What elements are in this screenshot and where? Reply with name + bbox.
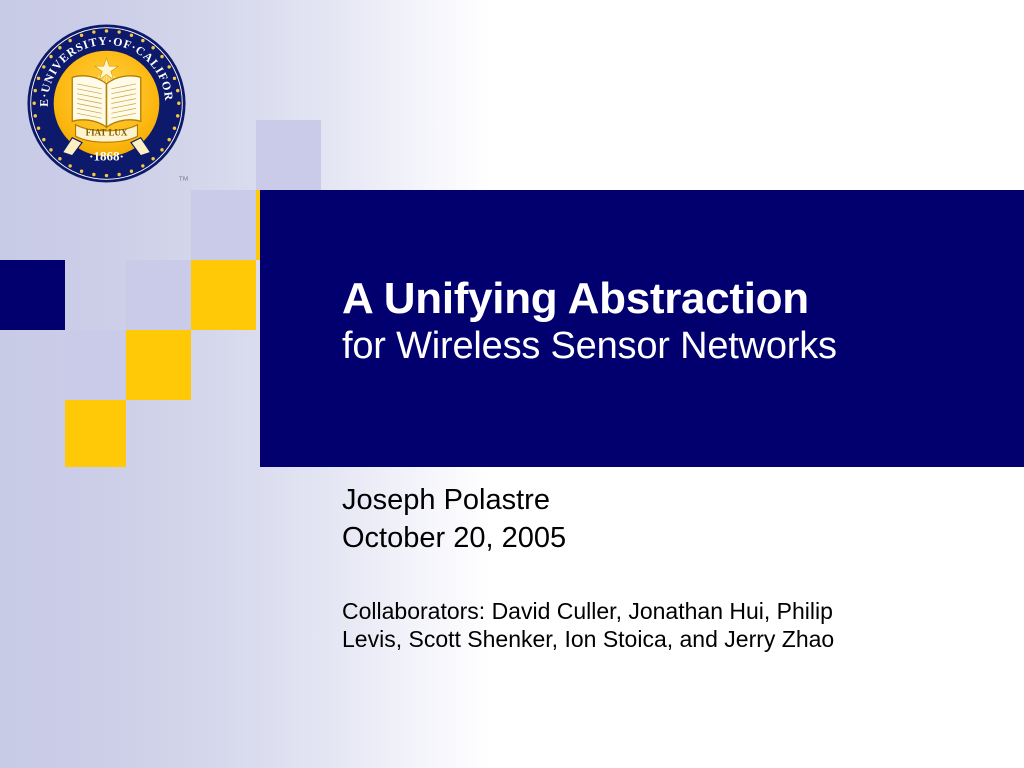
tile-lavender-r2c2 (126, 260, 191, 330)
slide-title: A Unifying Abstraction for Wireless Sens… (342, 274, 1012, 370)
seal-year: ·1868· (89, 149, 124, 164)
seal-motto: FIAT LUX (86, 127, 128, 137)
tile-lavender-r1c3 (191, 190, 256, 260)
collaborators-list: Collaborators: David Culler, Jonathan Hu… (342, 597, 1002, 653)
tile-navy-r2c0 (0, 260, 65, 330)
tile-gold-r2c3 (191, 260, 256, 330)
slide-subtitle: Joseph Polastre October 20, 2005 Collabo… (342, 482, 1002, 653)
tile-gold-r4c1 (65, 400, 126, 467)
title-line-primary: A Unifying Abstraction (342, 274, 1012, 323)
trademark-symbol: ™ (178, 175, 189, 187)
collaborators-line-2: Levis, Scott Shenker, Ion Stoica, and Je… (342, 625, 1002, 653)
presentation-slide: A Unifying Abstraction for Wireless Sens… (0, 0, 1024, 768)
presenter-name: Joseph Polastre (342, 482, 1002, 520)
tile-lavender-r0c4 (256, 120, 321, 190)
uc-berkeley-seal-icon: ·THE·UNIVERSITY·OF·CALIFORNIA· ·BERKELEY… (25, 22, 188, 185)
tile-lavender-r3c1 (65, 330, 126, 400)
title-line-secondary: for Wireless Sensor Networks (342, 323, 1012, 369)
presentation-date: October 20, 2005 (342, 520, 1002, 558)
collaborators-line-1: Collaborators: David Culler, Jonathan Hu… (342, 597, 1002, 625)
tile-gold-r3c2 (126, 330, 191, 400)
